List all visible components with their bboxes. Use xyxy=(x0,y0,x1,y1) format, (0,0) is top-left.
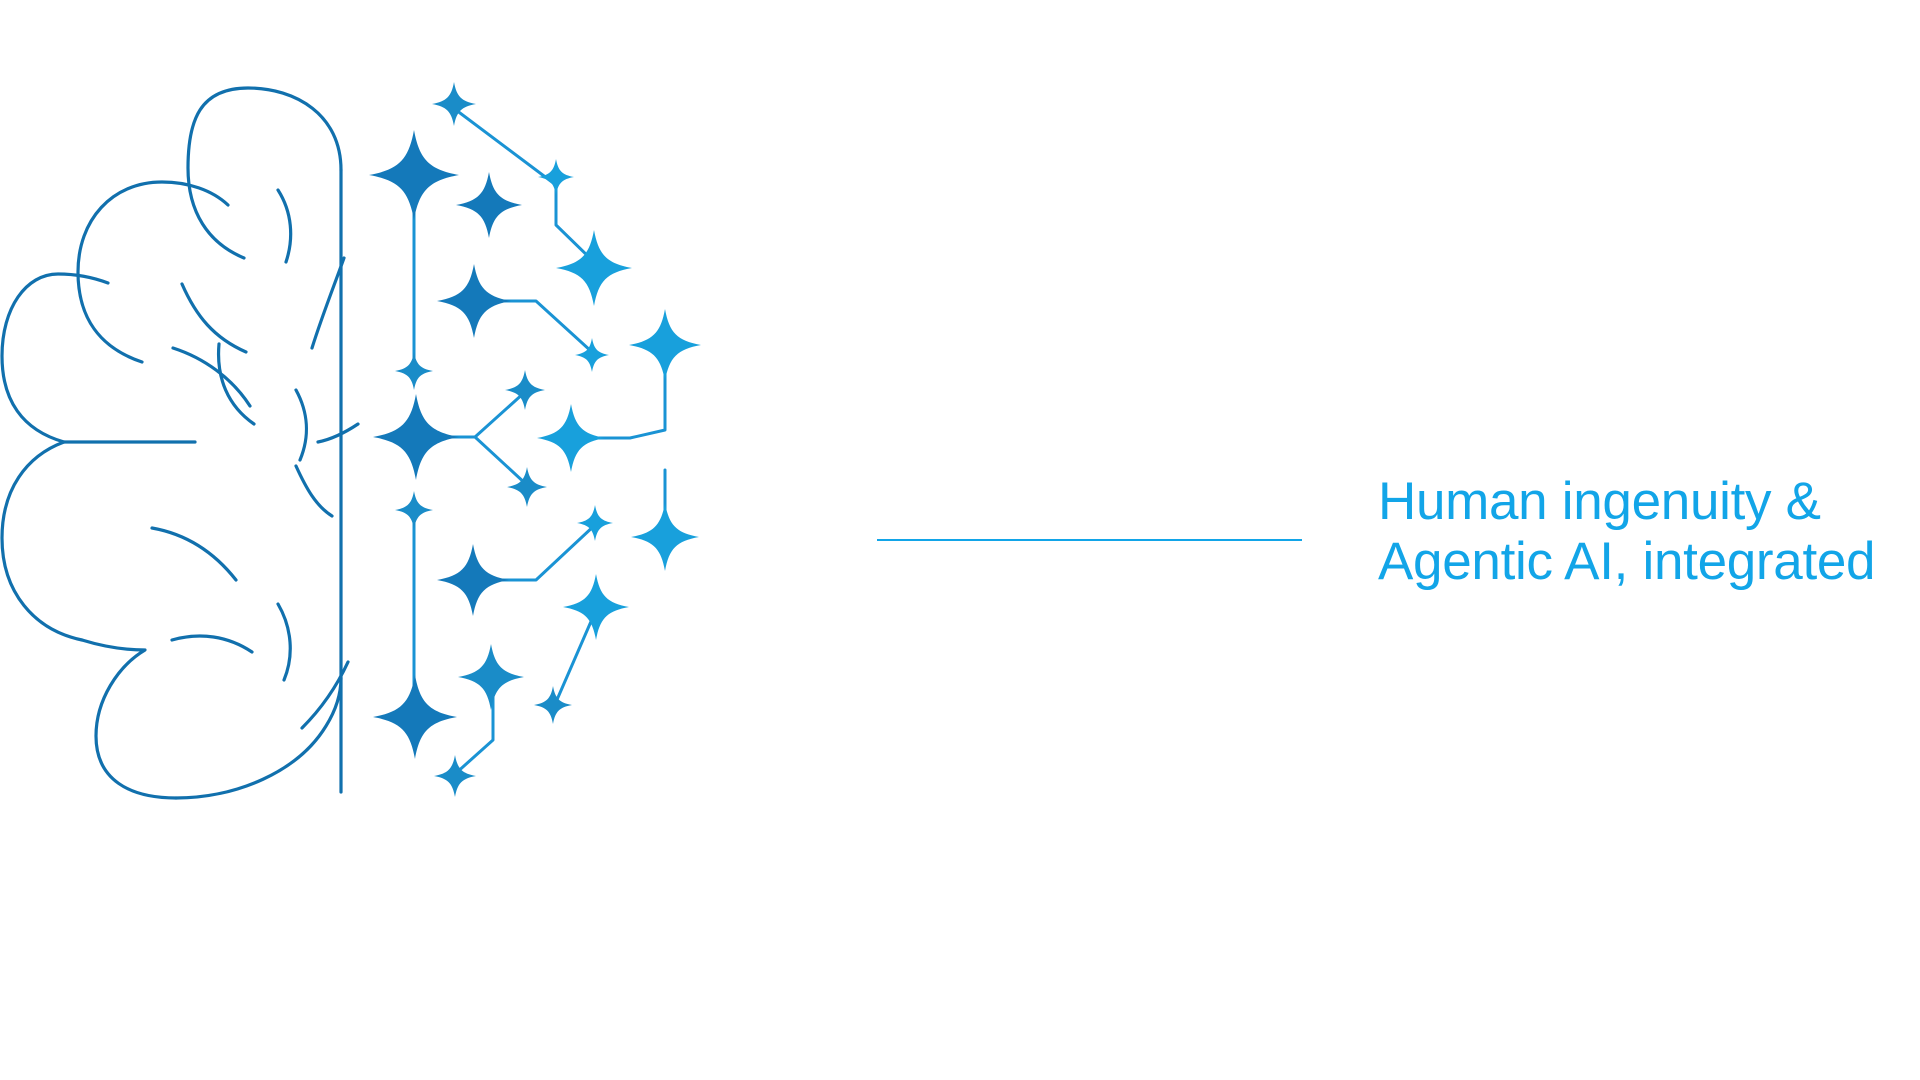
brain-outline-group xyxy=(2,88,358,798)
tagline-line-1: Human ingenuity & xyxy=(1378,472,1898,532)
brain-lobe-upper-mid xyxy=(2,274,108,442)
brain-fold-9 xyxy=(152,528,236,580)
brain-fold-11 xyxy=(278,604,290,680)
sparkle-icon xyxy=(373,675,457,759)
circuit-connector-layer xyxy=(414,110,665,774)
brain-fold-10 xyxy=(172,636,252,652)
brain-fold-7 xyxy=(318,424,358,442)
brain-fold-8 xyxy=(296,466,332,516)
sparkle-icon xyxy=(629,309,701,381)
circuit-connector xyxy=(476,524,596,580)
sparkle-icon xyxy=(537,404,605,472)
brain-fold-5 xyxy=(173,348,250,406)
slide-canvas: Human ingenuity & Agentic AI, integrated xyxy=(0,0,1920,1080)
tagline: Human ingenuity & Agentic AI, integrated xyxy=(1378,472,1898,592)
circuit-connector xyxy=(456,110,594,262)
brain-fold-4 xyxy=(219,344,254,424)
sparkle-icon xyxy=(395,491,433,529)
brain-bottom-contour xyxy=(176,678,341,798)
brain-fold-6 xyxy=(296,390,306,460)
sparkle-icon xyxy=(373,394,459,480)
brain-fold-1 xyxy=(278,190,291,262)
brain-fold-2 xyxy=(182,284,246,352)
sparkle-icon xyxy=(395,352,433,390)
brain-fold-3 xyxy=(312,258,344,348)
sparkle-icon xyxy=(631,503,699,571)
circuit-connector xyxy=(556,610,596,702)
sparkle-icon xyxy=(437,544,509,616)
brain-outer-contour xyxy=(188,88,341,258)
sparkle-icon xyxy=(563,574,629,640)
circuit-connector xyxy=(572,350,665,438)
sparkle-icon xyxy=(556,230,632,306)
sparkle-layer xyxy=(369,82,701,797)
brain-lobe-lower-mid xyxy=(2,442,82,640)
tagline-line-2: Agentic AI, integrated xyxy=(1378,532,1898,592)
sparkle-icon xyxy=(369,130,459,220)
sparkle-icon xyxy=(437,264,511,338)
sparkle-icon xyxy=(538,159,574,195)
brain-lobe-lower xyxy=(82,640,176,798)
sparkle-icon xyxy=(456,172,522,238)
circuit-connector xyxy=(476,301,592,352)
sparkle-icon xyxy=(534,686,572,724)
sparkle-icon xyxy=(458,644,524,710)
brain-lobe-upper xyxy=(78,182,228,362)
circuit-connector xyxy=(475,437,527,485)
